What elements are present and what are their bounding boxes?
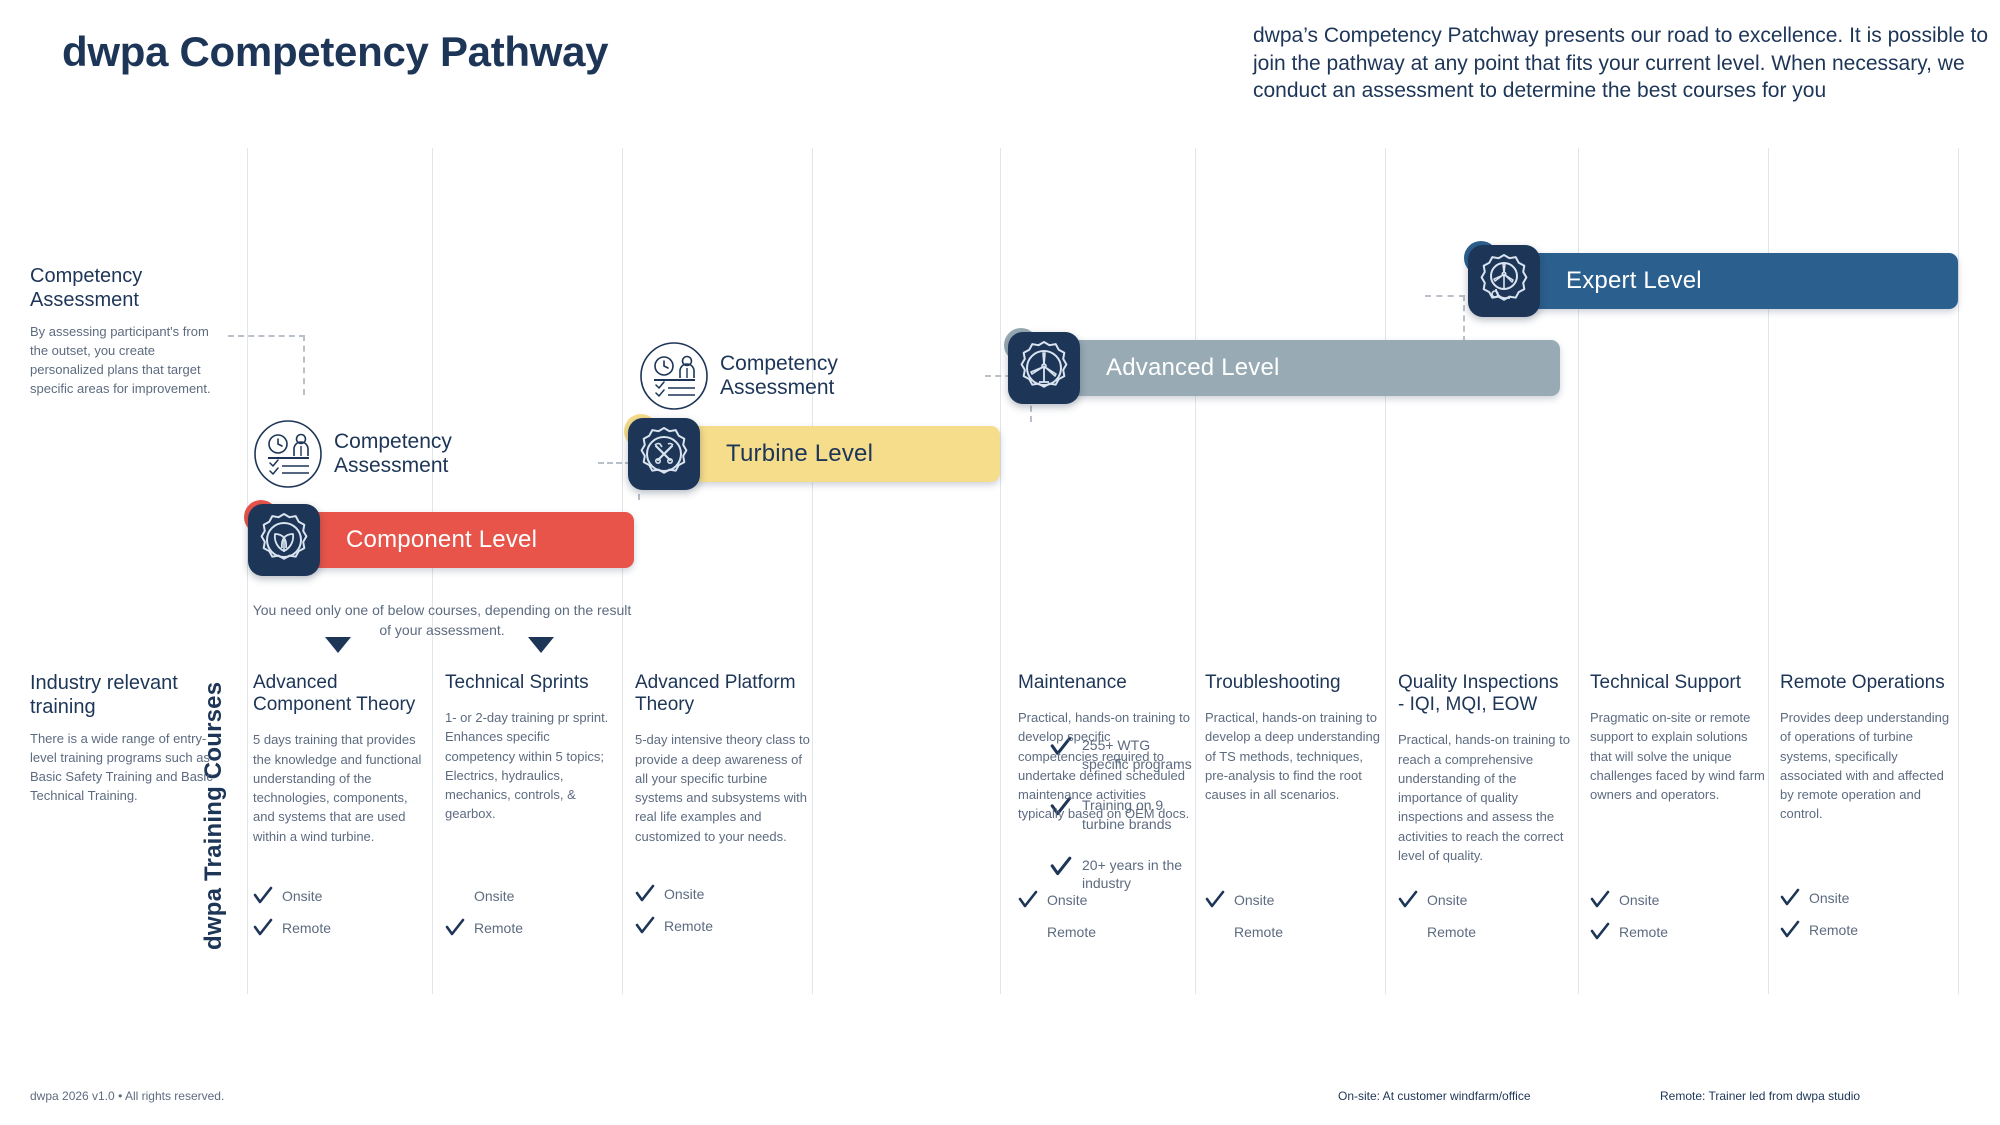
level-advanced[interactable]: Advanced Level — [1008, 332, 1560, 404]
course-title: Advanced Component Theory — [253, 672, 428, 716]
course-card-advanced-component-theory[interactable]: Advanced Component Theory 5 days trainin… — [253, 672, 428, 846]
mode-label: Remote — [1809, 922, 1858, 938]
mode-label: Remote — [1619, 924, 1668, 940]
mode-label: Remote — [1427, 924, 1476, 940]
delivery-modes: Onsite Remote — [1205, 884, 1380, 948]
mode-label: Onsite — [664, 886, 704, 902]
gear-turbine-icon — [1008, 332, 1080, 404]
mode-label: Onsite — [1047, 892, 1087, 908]
course-description: Provides deep understanding of operation… — [1780, 708, 1955, 823]
mode-onsite: Onsite — [635, 878, 810, 910]
gear-expert-icon — [1468, 245, 1540, 317]
course-card-technical-support[interactable]: Technical Support Pragmatic on-site or r… — [1590, 672, 1765, 804]
note-heading: Competency Assessment — [30, 265, 215, 312]
competency-assessment-marker-1: Competency Assessment — [252, 418, 452, 490]
assessment-hint-text: You need only one of below courses, depe… — [252, 600, 632, 641]
level-bar[interactable]: Advanced Level — [1050, 340, 1560, 396]
check-icon-empty — [1018, 922, 1038, 942]
level-icon-tile — [1008, 332, 1080, 404]
course-title: Remote Operations — [1780, 672, 1955, 694]
course-card-quality-inspections[interactable]: Quality Inspections - IQI, MQI, EOW Prac… — [1398, 672, 1580, 865]
mode-onsite: Onsite — [1590, 884, 1765, 916]
level-component[interactable]: Component Level — [248, 504, 634, 576]
mode-onsite: Onsite — [1780, 882, 1955, 914]
mode-label: Onsite — [474, 888, 514, 904]
mode-onsite: Onsite — [1018, 884, 1193, 916]
course-description: Practical, hands-on training to develop … — [1205, 708, 1380, 804]
mode-label: Remote — [664, 918, 713, 934]
course-card-troubleshooting[interactable]: Troubleshooting Practical, hands-on trai… — [1205, 672, 1380, 804]
mode-remote: Remote — [1590, 916, 1765, 948]
course-card-advanced-platform-theory[interactable]: Advanced Platform Theory 5-day intensive… — [635, 672, 810, 846]
mode-remote: Remote — [1398, 916, 1573, 948]
course-title: Technical Support — [1590, 672, 1765, 694]
course-title: Troubleshooting — [1205, 672, 1380, 694]
course-card-remote-operations[interactable]: Remote Operations Provides deep understa… — [1780, 672, 1955, 824]
course-card-technical-sprints[interactable]: Technical Sprints 1- or 2-day training p… — [445, 672, 620, 824]
arrow-down-icon — [325, 637, 351, 653]
mode-remote: Remote — [1205, 916, 1380, 948]
mode-label: Remote — [1234, 924, 1283, 940]
level-bar[interactable]: Expert Level — [1510, 253, 1958, 309]
delivery-modes: Onsite Remote — [253, 880, 428, 944]
pathway-infographic: dwpa Competency Pathway dwpa’s Competenc… — [0, 0, 2000, 1125]
level-icon-tile — [628, 418, 700, 490]
delivery-modes: Onsite Remote — [635, 878, 810, 942]
level-label: Turbine Level — [726, 440, 873, 468]
gear-tools-icon — [628, 418, 700, 490]
course-description: Pragmatic on-site or remote support to e… — [1590, 708, 1765, 804]
check-icon — [445, 918, 465, 938]
level-bar[interactable]: Turbine Level — [670, 426, 1000, 482]
check-icon — [253, 886, 273, 906]
check-icon-empty — [1398, 922, 1418, 942]
course-title: Advanced Platform Theory — [635, 672, 810, 716]
check-icon — [1398, 890, 1418, 910]
course-title: Maintenance — [1018, 672, 1193, 694]
footer-copyright: dwpa 2026 v1.0 • All rights reserved. — [30, 1089, 224, 1103]
mode-onsite: Onsite — [253, 880, 428, 912]
mode-remote: Remote — [445, 912, 620, 944]
competency-assessment-label: Competency Assessment — [334, 430, 452, 478]
mode-onsite: Onsite — [1205, 884, 1380, 916]
check-icon — [1590, 890, 1610, 910]
level-label: Expert Level — [1566, 267, 1702, 295]
mode-label: Onsite — [1809, 890, 1849, 906]
gridline — [812, 148, 813, 994]
check-icon — [1590, 922, 1610, 942]
check-icon — [253, 918, 273, 938]
mode-remote: Remote — [1018, 916, 1193, 948]
mode-label: Onsite — [1619, 892, 1659, 908]
delivery-modes: Onsite Remote — [445, 880, 620, 944]
note-heading: Industry relevant training — [30, 672, 215, 719]
note-industry-relevant-training: Industry relevant training There is a wi… — [30, 672, 215, 806]
check-icon-empty — [445, 886, 465, 906]
level-label: Advanced Level — [1106, 354, 1280, 382]
delivery-modes: Onsite Remote — [1018, 884, 1193, 948]
gear-leaf-icon — [248, 504, 320, 576]
check-icon — [635, 884, 655, 904]
competency-assessment-label: Competency Assessment — [720, 352, 838, 400]
note-body: There is a wide range of entry-level tra… — [30, 730, 215, 805]
mode-remote: Remote — [635, 910, 810, 942]
gridline — [1958, 148, 1959, 994]
course-description: Practical, hands-on training to develop … — [1018, 708, 1193, 823]
delivery-modes: Onsite Remote — [1398, 884, 1573, 948]
check-icon — [635, 916, 655, 936]
gridline — [1000, 148, 1001, 994]
check-icon — [1205, 890, 1225, 910]
connector-assessment-to-component — [228, 335, 305, 395]
level-label: Component Level — [346, 526, 537, 554]
course-title: Quality Inspections - IQI, MQI, EOW — [1398, 672, 1580, 716]
level-icon-tile — [248, 504, 320, 576]
mode-label: Remote — [1047, 924, 1096, 940]
mode-label: Onsite — [282, 888, 322, 904]
course-title: Technical Sprints — [445, 672, 620, 694]
note-competency-assessment: Competency Assessment By assessing parti… — [30, 265, 215, 399]
level-expert[interactable]: Expert Level — [1468, 245, 1958, 317]
mode-remote: Remote — [1780, 914, 1955, 946]
check-icon — [1780, 888, 1800, 908]
competency-assessment-icon — [252, 418, 324, 490]
check-icon-empty — [1205, 922, 1225, 942]
mode-label: Remote — [474, 920, 523, 936]
gridline — [1385, 148, 1386, 994]
arrow-down-icon — [528, 637, 554, 653]
mode-onsite: Onsite — [1398, 884, 1573, 916]
mode-label: Onsite — [1234, 892, 1274, 908]
competency-assessment-icon — [638, 340, 710, 412]
level-turbine[interactable]: Turbine Level — [628, 418, 998, 490]
competency-assessment-marker-2: Competency Assessment — [638, 340, 838, 412]
check-icon — [1780, 920, 1800, 940]
level-bar[interactable]: Component Level — [290, 512, 634, 568]
note-body: By assessing participant's from the outs… — [30, 323, 215, 398]
course-description: 5-day intensive theory class to provide … — [635, 730, 810, 845]
course-card-maintenance[interactable]: Maintenance Practical, hands-on training… — [1018, 672, 1193, 824]
footer-remote-note: Remote: Trainer led from dwpa studio — [1660, 1089, 1860, 1103]
mode-label: Remote — [282, 920, 331, 936]
course-description: Practical, hands-on training to reach a … — [1398, 730, 1580, 865]
footer-onsite-note: On-site: At customer windfarm/office — [1338, 1089, 1531, 1103]
course-description: 5 days training that provides the knowle… — [253, 730, 428, 845]
check-icon — [1018, 890, 1038, 910]
delivery-modes: Onsite Remote — [1780, 882, 1955, 946]
mode-label: Onsite — [1427, 892, 1467, 908]
course-description: 1- or 2-day training pr sprint. Enhances… — [445, 708, 620, 823]
level-icon-tile — [1468, 245, 1540, 317]
mode-remote: Remote — [253, 912, 428, 944]
delivery-modes: Onsite Remote — [1590, 884, 1765, 948]
mode-onsite: Onsite — [445, 880, 620, 912]
